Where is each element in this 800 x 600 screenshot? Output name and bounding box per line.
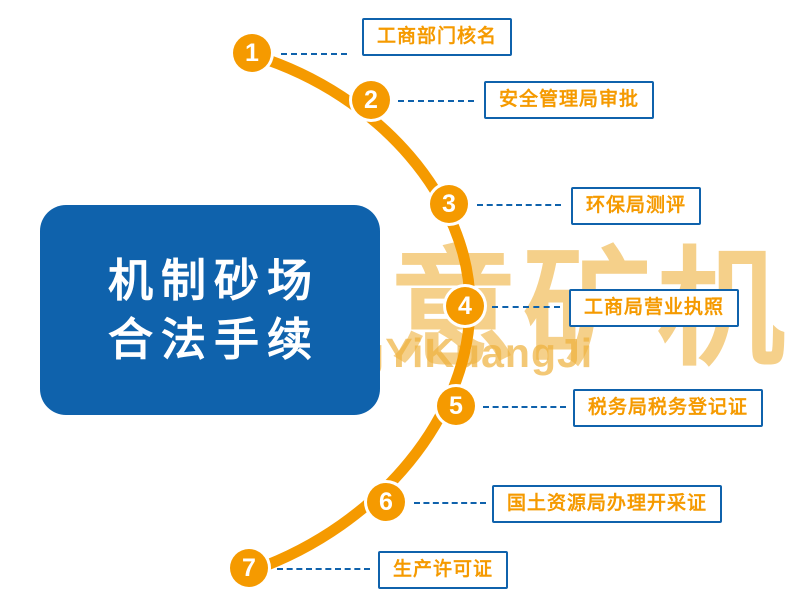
connector-2 (398, 100, 474, 102)
connector-3 (477, 204, 561, 206)
step-node-2[interactable]: 2 (352, 81, 390, 119)
step-label-4[interactable]: 工商局营业执照 (569, 289, 739, 327)
connector-5 (483, 406, 566, 408)
connector-7 (277, 568, 370, 570)
step-node-3[interactable]: 3 (430, 185, 468, 223)
connector-6 (414, 502, 486, 504)
title-line-2: 合法手续 (100, 310, 320, 369)
step-node-1[interactable]: 1 (233, 34, 271, 72)
title-card-inner: 机制砂场 合法手续 (40, 205, 380, 415)
step-label-3[interactable]: 环保局测评 (571, 187, 701, 225)
step-node-7[interactable]: 7 (230, 549, 268, 587)
step-label-2[interactable]: 安全管理局审批 (484, 81, 654, 119)
step-node-5[interactable]: 5 (437, 387, 475, 425)
flowchart-canvas: 中意矿机 ZhongYiKuangJi 机制砂场 合法手续 1 2 3 4 5 … (0, 0, 800, 600)
title-line-1: 机制砂场 (100, 251, 320, 310)
step-node-6[interactable]: 6 (367, 483, 405, 521)
step-label-1[interactable]: 工商部门核名 (362, 18, 512, 56)
title-card: 机制砂场 合法手续 (40, 205, 380, 415)
step-label-7[interactable]: 生产许可证 (378, 551, 508, 589)
connector-4 (492, 306, 560, 308)
step-node-4[interactable]: 4 (446, 287, 484, 325)
step-label-5[interactable]: 税务局税务登记证 (573, 389, 763, 427)
connector-1 (281, 53, 347, 55)
step-label-6[interactable]: 国土资源局办理开采证 (492, 485, 722, 523)
